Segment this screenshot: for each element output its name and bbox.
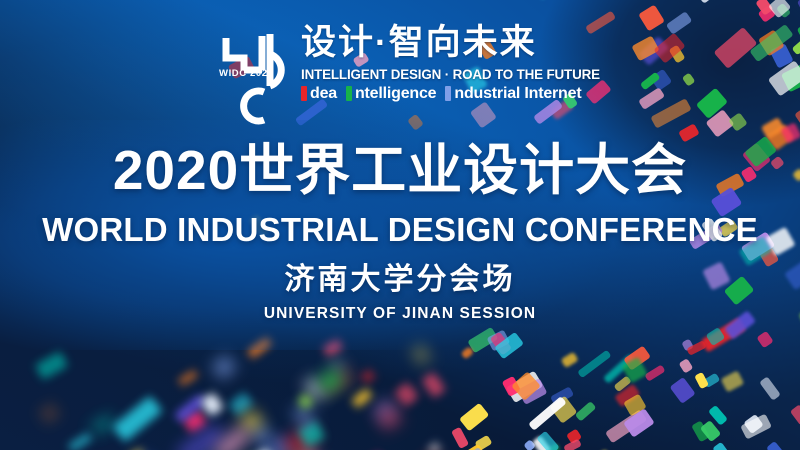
keyword-initial-block-icon	[301, 86, 307, 101]
conference-poster: WIDC 2020 设计·智向未来 INTELLIGENT DESIGN · R…	[0, 0, 800, 450]
widc-monogram-icon: WIDC 2020	[218, 24, 298, 128]
keyword-initial-block-icon	[346, 86, 352, 101]
tagline-block: 设计·智向未来 INTELLIGENT DESIGN · ROAD TO THE…	[298, 24, 600, 103]
venue-cn: 济南大学分会场	[0, 265, 800, 295]
title-cn: 2020世界工业设计大会	[0, 143, 800, 198]
poster-content: WIDC 2020 设计·智向未来 INTELLIGENT DESIGN · R…	[0, 0, 800, 450]
logo-year-label: WIDC 2020	[219, 68, 274, 79]
logo-lockup: WIDC 2020 设计·智向未来 INTELLIGENT DESIGN · R…	[218, 24, 588, 134]
tagline-cn: 设计·智向未来	[301, 25, 600, 61]
tagline-en: INTELLIGENT DESIGN · ROAD TO THE FUTURE	[301, 67, 600, 82]
venue-en: UNIVERSITY OF JINAN SESSION	[0, 306, 800, 322]
keyword-item: ndustrial Internet	[445, 85, 581, 103]
keyword-initial-block-icon	[445, 86, 451, 101]
keyword-label: dea	[310, 85, 337, 103]
keyword-label: ndustrial Internet	[454, 85, 581, 103]
keyword-label: ntelligence	[355, 85, 436, 103]
keyword-item: ntelligence	[346, 85, 436, 103]
title-en: WORLD INDUSTRIAL DESIGN CONFERENCE	[0, 213, 800, 246]
tagline-keywords: deantelligencendustrial Internet	[301, 85, 600, 103]
keyword-item: dea	[301, 85, 337, 103]
